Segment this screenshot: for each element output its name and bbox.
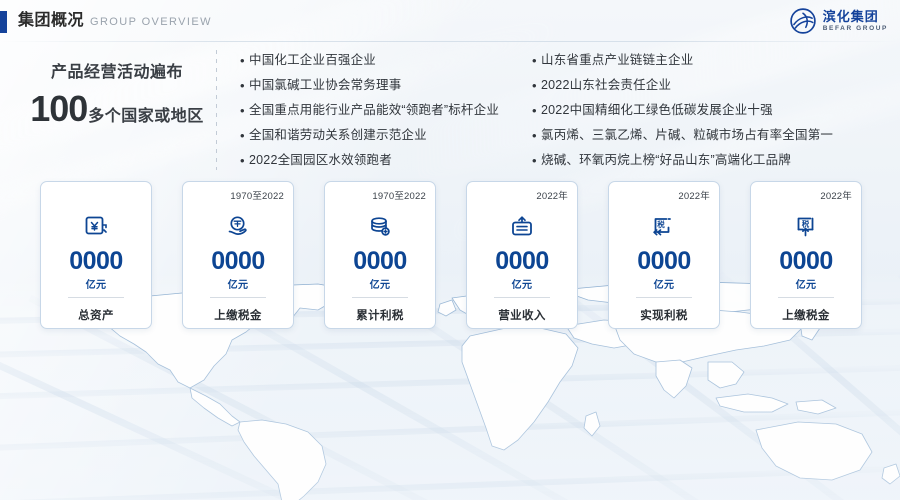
headline-line-1: 产品经营活动遍布 bbox=[26, 62, 208, 84]
card-period-label: 2022年 bbox=[820, 188, 852, 202]
list-item: • 烧碱、环氧丙烷上榜“好品山东”高端化工品牌 bbox=[532, 148, 892, 173]
bullet-dot-icon: • bbox=[240, 98, 249, 123]
card-period-label: 2022年 bbox=[678, 188, 710, 202]
card-period-label: 1970至2022 bbox=[230, 188, 284, 202]
card-separator bbox=[778, 297, 834, 298]
list-item-label: 中国氯碱工业协会常务理事 bbox=[249, 73, 401, 98]
card-label: 累计利税 bbox=[356, 307, 404, 323]
card-unit: 亿元 bbox=[228, 276, 249, 291]
logo-name-cn: 滨化集团 bbox=[823, 10, 888, 23]
list-item-label: 中国化工企业百强企业 bbox=[249, 48, 376, 73]
stat-card-taxes-paid-2022[interactable]: 2022年 税 0000 亿元 上缴税金 bbox=[750, 181, 862, 329]
stat-card-cumulative-profit-tax[interactable]: 1970至2022 0000 亿元 累计利税 bbox=[324, 181, 436, 329]
page-subtitle: GROUP OVERVIEW bbox=[90, 14, 212, 30]
card-separator bbox=[68, 297, 124, 298]
card-unit: 亿元 bbox=[370, 276, 391, 291]
card-label: 实现利税 bbox=[640, 307, 688, 323]
card-label: 上缴税金 bbox=[782, 307, 830, 323]
page-title: 集团概况 bbox=[18, 9, 84, 33]
bullet-dot-icon: • bbox=[240, 123, 249, 148]
card-value: 0000 bbox=[637, 247, 691, 275]
card-unit: 亿元 bbox=[512, 276, 533, 291]
headline-line-2: 100 多个国家或地区 bbox=[26, 90, 208, 128]
list-item-label: 烧碱、环氧丙烷上榜“好品山东”高端化工品牌 bbox=[541, 148, 791, 173]
list-item-label: 2022中国精细化工绿色低碳发展企业十强 bbox=[541, 98, 773, 123]
vertical-dashed-divider bbox=[216, 50, 217, 170]
card-separator bbox=[210, 297, 266, 298]
card-separator bbox=[636, 297, 692, 298]
tax-in-hand-icon bbox=[225, 214, 251, 240]
yuan-box-icon bbox=[83, 214, 109, 240]
list-item: • 中国化工企业百强企业 bbox=[240, 48, 540, 73]
card-separator bbox=[352, 297, 408, 298]
tax-chevron-icon: 税 bbox=[651, 214, 677, 240]
card-separator bbox=[494, 297, 550, 298]
list-item: • 2022山东社会责任企业 bbox=[532, 73, 892, 98]
card-unit: 亿元 bbox=[796, 276, 817, 291]
bullet-dot-icon: • bbox=[532, 73, 541, 98]
list-item-label: 山东省重点产业链链主企业 bbox=[541, 48, 693, 73]
stat-card-total-assets[interactable]: 0000 亿元 总资产 bbox=[40, 181, 152, 329]
logo-name-en: BEFAR GROUP bbox=[823, 26, 888, 33]
card-period-label: 2022年 bbox=[536, 188, 568, 202]
card-label: 总资产 bbox=[78, 307, 114, 323]
list-item-label: 全国重点用能行业产品能效“领跑者”标杆企业 bbox=[249, 98, 499, 123]
page-header: 集团概况 GROUP OVERVIEW 滨化集团 BEFAR GROUP bbox=[0, 0, 900, 41]
tax-arrow-up-icon: 税 bbox=[793, 214, 819, 240]
card-unit: 亿元 bbox=[654, 276, 675, 291]
list-item: • 2022中国精细化工绿色低碳发展企业十强 bbox=[532, 98, 892, 123]
card-period-label: 1970至2022 bbox=[372, 188, 426, 202]
headline-number: 100 bbox=[30, 90, 87, 128]
bullet-dot-icon: • bbox=[532, 48, 541, 73]
stat-card-realized-profit-tax[interactable]: 2022年 税 0000 亿元 实现利税 bbox=[608, 181, 720, 329]
card-unit: 亿元 bbox=[86, 276, 107, 291]
list-item: • 全国重点用能行业产品能效“领跑者”标杆企业 bbox=[240, 98, 540, 123]
card-value: 0000 bbox=[69, 247, 123, 275]
logo-text: 滨化集团 BEFAR GROUP bbox=[823, 10, 888, 33]
header-accent-bar bbox=[0, 11, 7, 33]
bullet-dot-icon: • bbox=[240, 48, 249, 73]
honors-list-right: • 山东省重点产业链链主企业 • 2022山东社会责任企业 • 2022中国精细… bbox=[532, 48, 892, 173]
card-value: 0000 bbox=[779, 247, 833, 275]
card-label: 营业收入 bbox=[498, 307, 546, 323]
bullet-dot-icon: • bbox=[240, 73, 249, 98]
list-item: • 中国氯碱工业协会常务理事 bbox=[240, 73, 540, 98]
honors-list-left: • 中国化工企业百强企业 • 中国氯碱工业协会常务理事 • 全国重点用能行业产品… bbox=[240, 48, 540, 173]
svg-text:税: 税 bbox=[657, 219, 665, 229]
stat-card-row: 0000 亿元 总资产 1970至2022 0000 亿元 上缴税金 1970至… bbox=[40, 181, 862, 329]
list-item: • 全国和谐劳动关系创建示范企业 bbox=[240, 123, 540, 148]
list-item: • 山东省重点产业链链主企业 bbox=[532, 48, 892, 73]
svg-text:税: 税 bbox=[802, 219, 810, 229]
bullet-dot-icon: • bbox=[532, 148, 541, 173]
bullet-dot-icon: • bbox=[532, 123, 541, 148]
coin-stack-icon bbox=[367, 214, 393, 240]
bullet-dot-icon: • bbox=[532, 98, 541, 123]
list-item-label: 2022全国园区水效领跑者 bbox=[249, 148, 392, 173]
list-item-label: 全国和谐劳动关系创建示范企业 bbox=[249, 123, 427, 148]
list-item: • 2022全国园区水效领跑者 bbox=[240, 148, 540, 173]
list-item-label: 2022山东社会责任企业 bbox=[541, 73, 671, 98]
header-divider bbox=[0, 41, 900, 42]
slide-root: 集团概况 GROUP OVERVIEW 滨化集团 BEFAR GROUP 产品经… bbox=[0, 0, 900, 500]
wallet-arrow-up-icon bbox=[509, 214, 535, 240]
card-value: 0000 bbox=[211, 247, 265, 275]
bullet-dot-icon: • bbox=[240, 148, 249, 173]
list-item-label: 氯丙烯、三氯乙烯、片碱、粒碱市场占有率全国第一 bbox=[541, 123, 833, 148]
card-label: 上缴税金 bbox=[214, 307, 262, 323]
headline-suffix: 多个国家或地区 bbox=[88, 102, 204, 126]
stat-card-taxes-paid-cumulative[interactable]: 1970至2022 0000 亿元 上缴税金 bbox=[182, 181, 294, 329]
stat-card-operating-revenue[interactable]: 2022年 0000 亿元 营业收入 bbox=[466, 181, 578, 329]
headline-block: 产品经营活动遍布 100 多个国家或地区 bbox=[26, 62, 208, 128]
befar-circular-logo-icon bbox=[789, 7, 817, 35]
card-value: 0000 bbox=[353, 247, 407, 275]
company-logo: 滨化集团 BEFAR GROUP bbox=[789, 7, 888, 35]
card-value: 0000 bbox=[495, 247, 549, 275]
list-item: • 氯丙烯、三氯乙烯、片碱、粒碱市场占有率全国第一 bbox=[532, 123, 892, 148]
